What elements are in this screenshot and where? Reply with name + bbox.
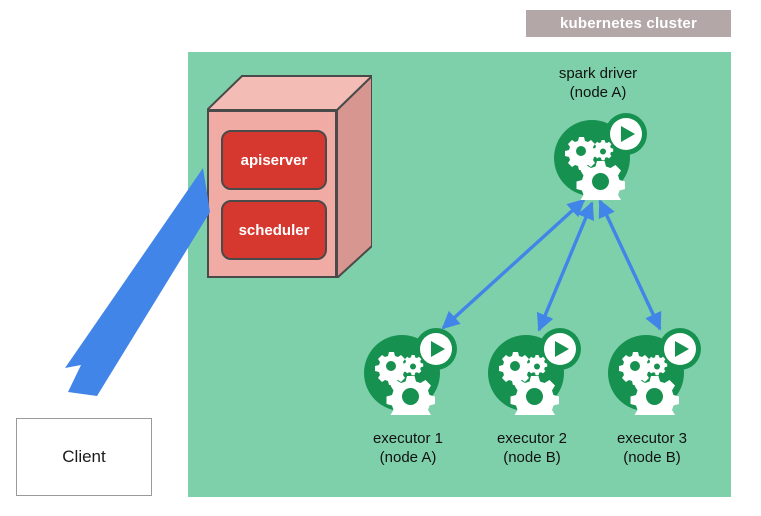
- spark-driver-subtitle: (node A): [528, 83, 668, 102]
- spark-submit-arrow-shape: [55, 160, 215, 405]
- executor-1-node[interactable]: [358, 325, 458, 415]
- executor-2-node[interactable]: [482, 325, 582, 415]
- executor-1-label: executor 1 (node A): [338, 429, 478, 467]
- control-plane-cube: apiserver scheduler: [207, 68, 372, 278]
- spark-driver-label: spark driver (node A): [528, 64, 668, 102]
- gears-play-icon: [548, 110, 648, 200]
- gears-play-icon: [482, 325, 582, 415]
- executor-3-title: executor 3: [582, 429, 722, 448]
- spark-submit-arrow: spark-submit: [55, 160, 215, 405]
- component-apiserver[interactable]: apiserver: [221, 130, 327, 190]
- executor-3-label: executor 3 (node B): [582, 429, 722, 467]
- spark-driver-node[interactable]: [548, 110, 648, 200]
- executor-1-title: executor 1: [338, 429, 478, 448]
- diagram-canvas: kubernetes cluster apiserver scheduler s…: [0, 0, 761, 516]
- kubernetes-cluster-badge: kubernetes cluster: [526, 10, 731, 37]
- component-scheduler[interactable]: scheduler: [221, 200, 327, 260]
- gears-play-icon: [358, 325, 458, 415]
- cube-front-face: apiserver scheduler: [207, 110, 337, 278]
- executor-1-subtitle: (node A): [338, 448, 478, 467]
- spark-driver-title: spark driver: [528, 64, 668, 83]
- executor-2-title: executor 2: [462, 429, 602, 448]
- gears-play-icon: [602, 325, 702, 415]
- executor-2-label: executor 2 (node B): [462, 429, 602, 467]
- executor-3-subtitle: (node B): [582, 448, 722, 467]
- client-box[interactable]: Client: [16, 418, 152, 496]
- executor-2-subtitle: (node B): [462, 448, 602, 467]
- executor-3-node[interactable]: [602, 325, 702, 415]
